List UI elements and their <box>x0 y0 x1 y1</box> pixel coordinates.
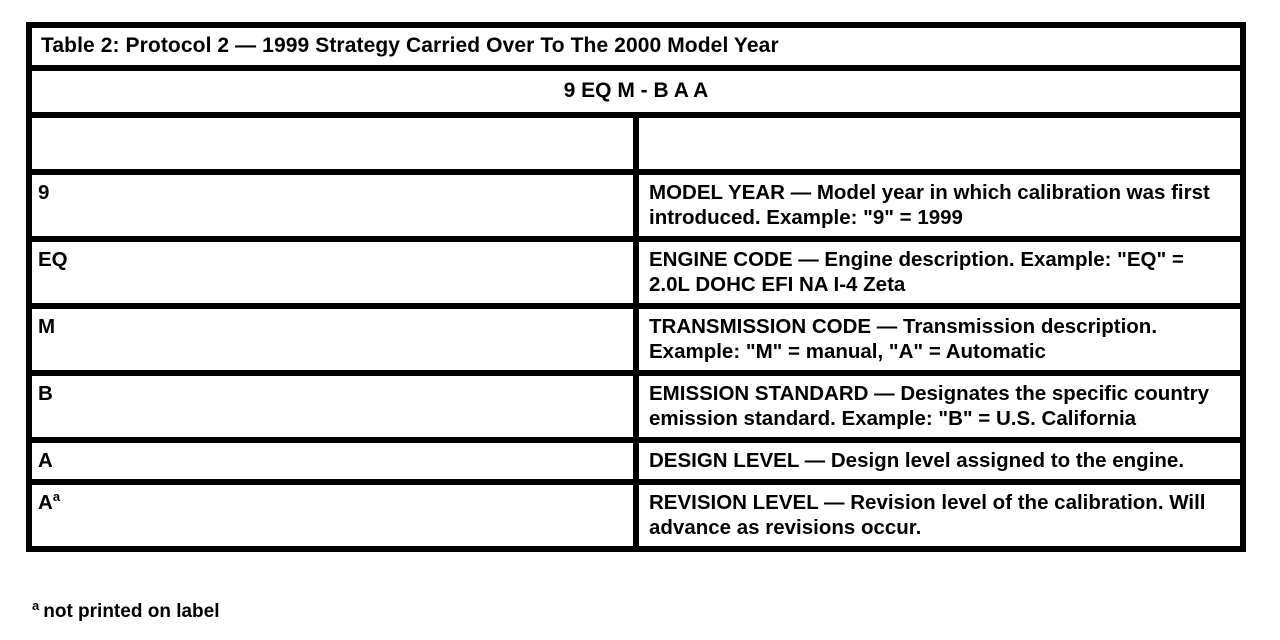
calibration-code-table: Table 2: Protocol 2 — 1999 Strategy Carr… <box>26 22 1246 552</box>
calibration-code-example: 9 EQ M - B A A <box>564 79 709 102</box>
code-label: 9 <box>38 181 49 204</box>
spacer-code-cell <box>32 115 636 172</box>
description-text: EMISSION STANDARD — Designates the speci… <box>649 382 1209 430</box>
description-cell-emission-standard: EMISSION STANDARD — Designates the speci… <box>636 373 1240 440</box>
table-title-cell: Table 2: Protocol 2 — 1999 Strategy Carr… <box>32 28 1240 68</box>
page-root: Table 2: Protocol 2 — 1999 Strategy Carr… <box>0 0 1280 640</box>
description-cell-engine-code: ENGINE CODE — Engine description. Exampl… <box>636 239 1240 306</box>
code-example-cell: 9 EQ M - B A A <box>32 68 1240 115</box>
description-cell-design-level: DESIGN LEVEL — Design level assigned to … <box>636 440 1240 482</box>
description-text: REVISION LEVEL — Revision level of the c… <box>649 491 1205 539</box>
code-label: B <box>38 382 53 405</box>
table-grid: Table 2: Protocol 2 — 1999 Strategy Carr… <box>32 28 1240 546</box>
table-body: Table 2: Protocol 2 — 1999 Strategy Carr… <box>32 28 1240 546</box>
table-row: 9 MODEL YEAR — Model year in which calib… <box>32 172 1240 239</box>
footnote-marker-icon: a <box>32 598 39 613</box>
table-row: Aa REVISION LEVEL — Revision level of th… <box>32 482 1240 546</box>
description-cell-model-year: MODEL YEAR — Model year in which calibra… <box>636 172 1240 239</box>
description-text: TRANSMISSION CODE — Transmission descrip… <box>649 315 1157 363</box>
code-cell-engine-code: EQ <box>32 239 636 306</box>
footnote-text: not printed on label <box>43 601 219 622</box>
table-title-row: Table 2: Protocol 2 — 1999 Strategy Carr… <box>32 28 1240 68</box>
description-text: MODEL YEAR — Model year in which calibra… <box>649 181 1210 229</box>
code-example-row: 9 EQ M - B A A <box>32 68 1240 115</box>
footnote-marker-icon: a <box>53 489 60 504</box>
table-row: B EMISSION STANDARD — Designates the spe… <box>32 373 1240 440</box>
code-cell-model-year: 9 <box>32 172 636 239</box>
code-cell-design-level: A <box>32 440 636 482</box>
table-row: M TRANSMISSION CODE — Transmission descr… <box>32 306 1240 373</box>
code-label: A <box>38 491 53 514</box>
description-cell-transmission-code: TRANSMISSION CODE — Transmission descrip… <box>636 306 1240 373</box>
code-label: M <box>38 315 55 338</box>
description-cell-revision-level: REVISION LEVEL — Revision level of the c… <box>636 482 1240 546</box>
spacer-row <box>32 115 1240 172</box>
code-label: EQ <box>38 248 68 271</box>
description-text: ENGINE CODE — Engine description. Exampl… <box>649 248 1184 296</box>
code-cell-revision-level: Aa <box>32 482 636 546</box>
code-label: A <box>38 449 53 472</box>
table-footnote: anot printed on label <box>32 600 220 623</box>
table-row: A DESIGN LEVEL — Design level assigned t… <box>32 440 1240 482</box>
code-cell-emission-standard: B <box>32 373 636 440</box>
spacer-description-cell <box>636 115 1240 172</box>
code-cell-transmission-code: M <box>32 306 636 373</box>
table-row: EQ ENGINE CODE — Engine description. Exa… <box>32 239 1240 306</box>
description-text: DESIGN LEVEL — Design level assigned to … <box>649 449 1184 472</box>
page-title: Table 2: Protocol 2 — 1999 Strategy Carr… <box>41 34 779 57</box>
